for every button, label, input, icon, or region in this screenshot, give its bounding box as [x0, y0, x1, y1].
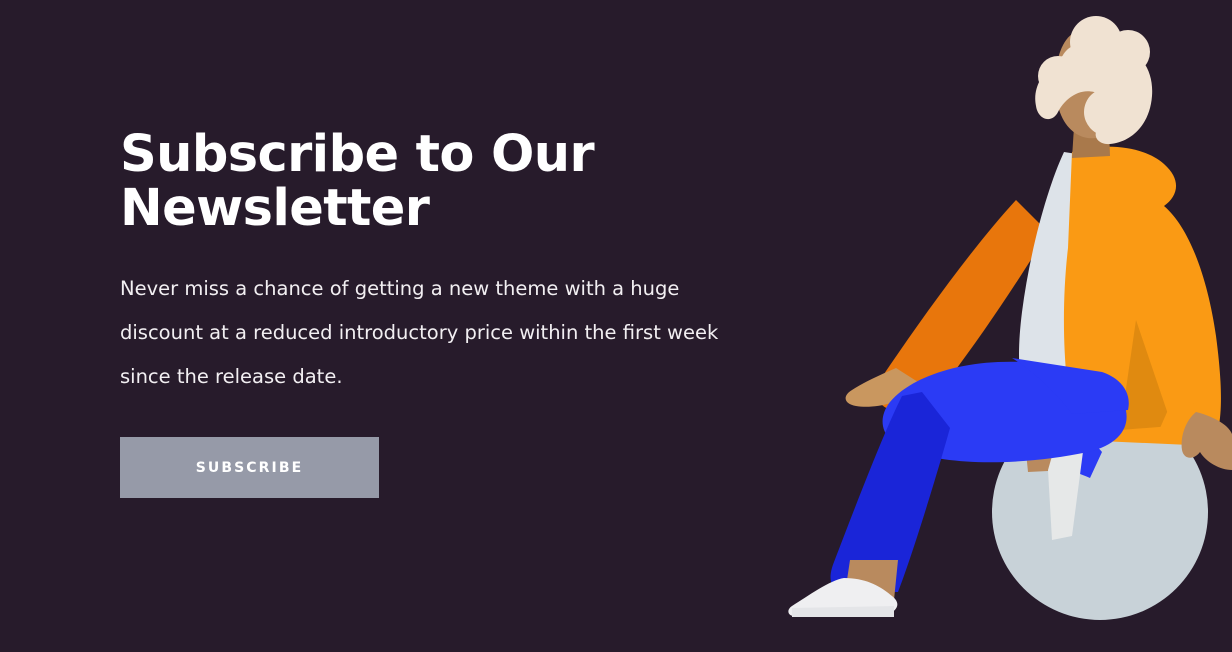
- back-leg-shape: [1030, 430, 1102, 478]
- page-title: Subscribe to Our Newsletter: [120, 128, 760, 236]
- jacket-near-sleeve-shape: [1160, 392, 1224, 454]
- shirt-shape: [1019, 152, 1090, 384]
- pants-thigh-shape: [883, 362, 1127, 463]
- far-hand-shape: [846, 368, 921, 415]
- face-shape: [1055, 31, 1132, 138]
- pants-seat-shape: [1012, 358, 1129, 414]
- pants-shin-shape: [831, 392, 950, 592]
- neck-shape: [1072, 96, 1110, 158]
- front-sneaker-sole-shape: [792, 606, 894, 617]
- near-hand-shape: [1182, 412, 1232, 470]
- back-sneaker-shape: [1048, 428, 1084, 540]
- jacket-body-shape: [1064, 147, 1221, 446]
- subscribe-button[interactable]: SUBSCRIBE: [120, 437, 379, 498]
- front-ankle-shape: [844, 560, 898, 600]
- hair-shape: [1035, 16, 1152, 144]
- illustration-person-on-exercise-ball: [772, 0, 1232, 652]
- back-ankle-shape: [1024, 432, 1068, 472]
- banner-description: Never miss a chance of getting a new the…: [120, 267, 720, 399]
- jacket-fold-shape: [1120, 320, 1172, 430]
- front-sneaker-shape: [788, 578, 897, 616]
- banner-copy: Subscribe to Our Newsletter Never miss a…: [120, 128, 760, 498]
- newsletter-banner: Subscribe to Our Newsletter Never miss a…: [0, 0, 1232, 652]
- exercise-ball-shape: [992, 404, 1208, 620]
- jacket-far-sleeve-shape: [877, 200, 1048, 411]
